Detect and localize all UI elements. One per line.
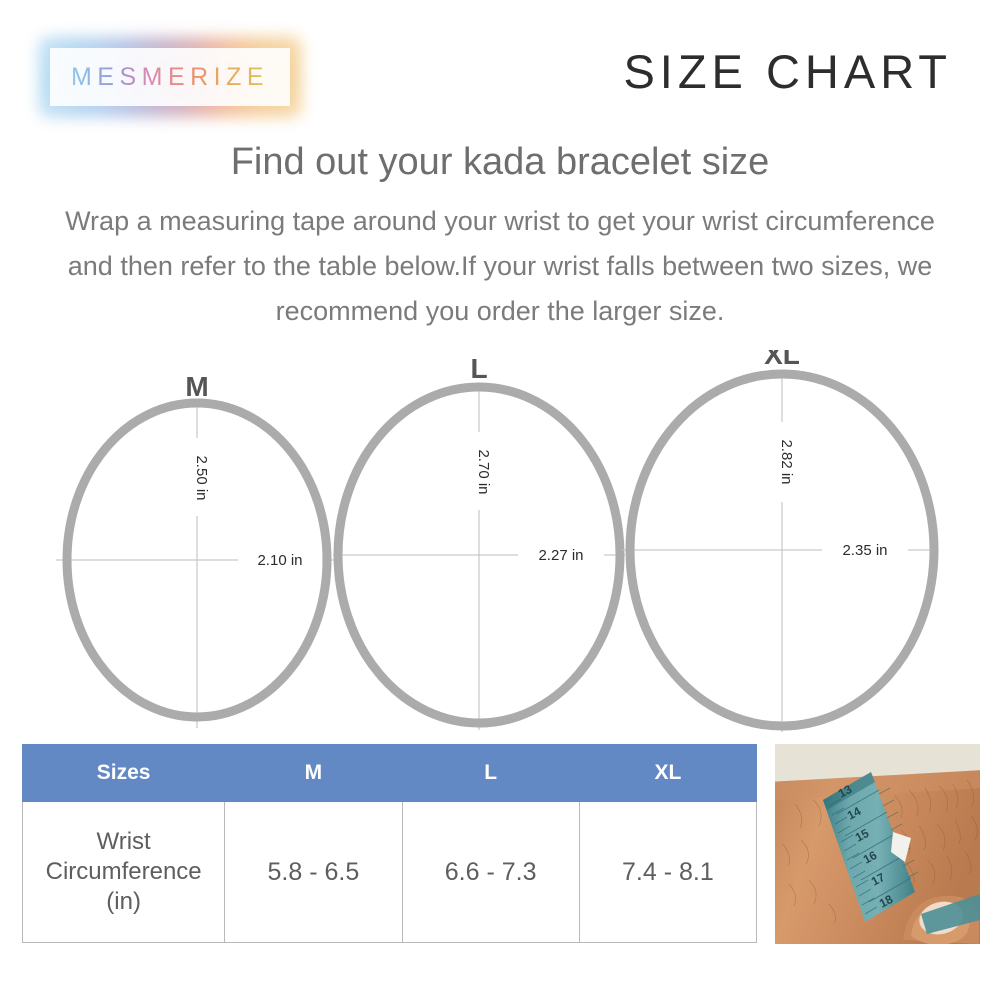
row-label-line-2: Circumference [46, 858, 202, 885]
oval-group-m: M 2.50 in 2.10 in [56, 371, 338, 728]
size-table: Sizes M L XL Wrist Circumference (in) 5.… [22, 744, 757, 943]
oval-m-letter: M [185, 371, 208, 402]
cell-wrist-xl: 7.4 - 8.1 [579, 802, 756, 943]
oval-group-l: L 2.70 in 2.27 in [333, 353, 625, 730]
oval-xl-letter: XL [764, 350, 800, 370]
brand-logo: MESMERIZE [50, 48, 290, 106]
intro-body: Wrap a measuring tape around your wrist … [40, 199, 960, 334]
table-header-sizes: Sizes [23, 745, 225, 802]
oval-m-height-label: 2.50 in [193, 455, 210, 500]
table-row: Wrist Circumference (in) 5.8 - 6.5 6.6 -… [23, 802, 757, 943]
wrist-measurement-photo: 13 14 15 16 17 18 [775, 744, 980, 944]
oval-xl-height-label: 2.82 in [778, 439, 795, 484]
intro-block: Find out your kada bracelet size Wrap a … [40, 140, 960, 334]
logo-wordmark: MESMERIZE [71, 63, 269, 92]
size-chart-page: MESMERIZE SIZE CHART Find out your kada … [0, 0, 1000, 1000]
oval-m-width-label: 2.10 in [257, 552, 302, 569]
oval-xl-width-label: 2.35 in [842, 542, 887, 559]
bracelet-size-diagram: M 2.50 in 2.10 in L 2.70 in 2.27 in [0, 350, 1000, 750]
page-title: SIZE CHART [623, 44, 952, 99]
logo-plate: MESMERIZE [50, 48, 290, 106]
oval-l-letter: L [470, 353, 487, 384]
cell-wrist-l: 6.6 - 7.3 [402, 802, 579, 943]
intro-heading: Find out your kada bracelet size [40, 140, 960, 185]
row-label-wrist-circumference: Wrist Circumference (in) [23, 802, 225, 943]
oval-l-height-label: 2.70 in [475, 449, 492, 494]
table-header-xl: XL [579, 745, 756, 802]
cell-wrist-m: 5.8 - 6.5 [225, 802, 402, 943]
row-label-line-1: Wrist [97, 828, 151, 855]
row-label-line-3: (in) [106, 888, 141, 915]
oval-group-xl: XL 2.82 in 2.35 in [622, 350, 934, 732]
table-header-l: L [402, 745, 579, 802]
table-header-m: M [225, 745, 402, 802]
oval-l-width-label: 2.27 in [538, 547, 583, 564]
table-header-row: Sizes M L XL [23, 745, 757, 802]
